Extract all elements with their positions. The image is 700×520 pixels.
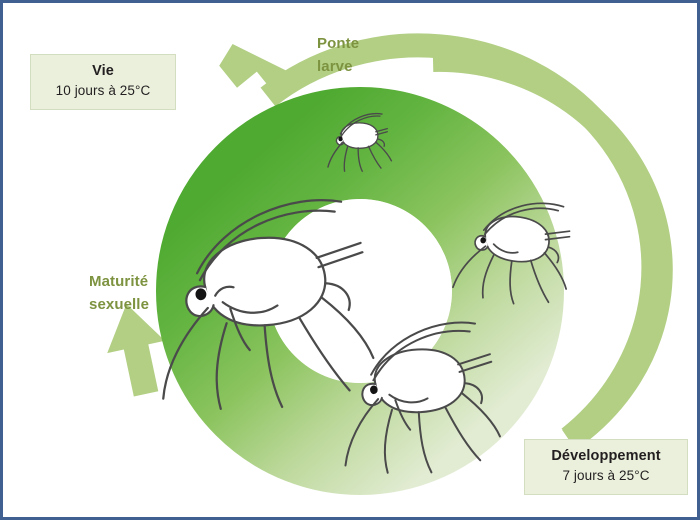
aphid-eye <box>338 137 342 142</box>
info-box-developpement-subtitle: 7 jours à 25°C <box>537 467 675 485</box>
info-box-vie-title: Vie <box>43 62 163 82</box>
info-box-developpement-title: Développement <box>537 447 675 467</box>
info-box-vie-subtitle: 10 jours à 25°C <box>43 82 163 100</box>
stage-label-maturite-line2: sexuelle <box>89 294 149 317</box>
stage-label-maturite-line1: Maturité <box>89 271 149 294</box>
stage-label-ponte-line2: larve <box>317 56 359 79</box>
life-cycle-diagram: Vie 10 jours à 25°C Développement 7 jour… <box>0 0 700 520</box>
info-box-vie: Vie 10 jours à 25°C <box>30 54 176 110</box>
stage-label-maturite-sexuelle: Maturité sexuelle <box>89 271 149 316</box>
stage-label-ponte-line1: Ponte <box>317 33 359 56</box>
stage-label-ponte-larve: Ponte larve <box>317 33 359 78</box>
info-box-developpement: Développement 7 jours à 25°C <box>524 439 688 495</box>
